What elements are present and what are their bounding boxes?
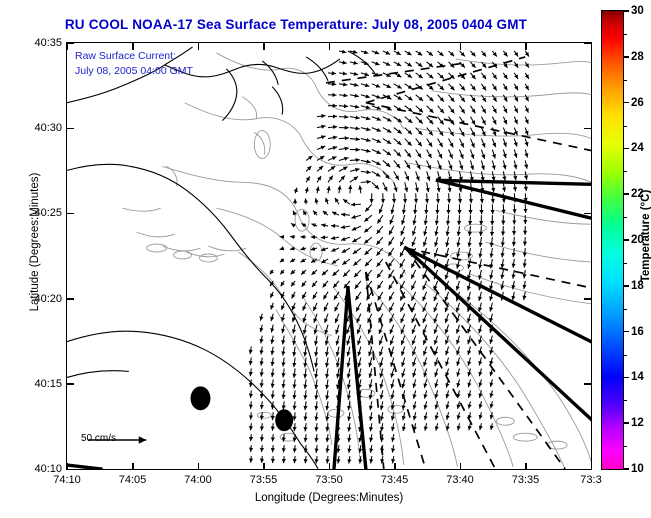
x-tick-label: 73:35 [512,474,540,486]
y-tick-label: 40:35 [34,37,62,49]
current-annotation: Raw Surface Current: July 08, 2005 04:00… [75,49,193,79]
colorbar-tick-label: 14 [631,371,644,383]
colorbar-tick [624,102,629,104]
colorbar-tick [624,285,629,287]
colorbar-minor-tick [624,217,627,218]
colorbar-label: Temperature (°C) [640,156,651,316]
colorbar-minor-tick [624,355,627,356]
colorbar-minor-tick [624,34,627,35]
y-tick [67,213,74,215]
y-tick [67,469,74,471]
colorbar-tick [624,193,629,195]
y-tick [67,383,74,385]
x-tick-top [263,43,265,50]
x-tick-label: 73:40 [446,474,474,486]
x-tick [198,463,200,470]
colorbar-tick [624,148,629,150]
y-tick [67,43,74,45]
y-tick [67,128,74,130]
station-marker [191,386,211,410]
colorbar-tick [624,239,629,241]
x-tick-top [329,43,331,50]
y-tick-right [584,213,591,215]
surface-current-vectors [250,51,529,464]
colorbar-tick [624,422,629,424]
colorbar-tick [624,377,629,379]
x-tick-top [460,43,462,50]
x-tick-top [394,43,396,50]
x-tick [394,463,396,470]
y-axis-label: Latitude (Degrees:Minutes) [29,132,41,352]
x-tick-label: 74:00 [184,474,212,486]
annotation-line-1: Raw Surface Current: [75,49,193,64]
radar-beam-solid-lines [67,180,591,469]
vector-scale-key: 50 cm/s [66,433,183,447]
colorbar-minor-tick [624,400,627,401]
y-tick-right [584,469,591,471]
coastline [67,47,376,469]
station-markers [191,386,294,431]
colorbar-minor-tick [624,263,627,264]
colorbar-minor-tick [624,126,627,127]
x-tick-top [591,43,593,50]
sst-map-figure: RU COOL NOAA-17 Sea Surface Temperature:… [0,0,651,518]
x-tick [132,463,134,470]
x-tick [525,463,527,470]
annotation-line-2: July 08, 2005 04:00 GMT [75,64,193,79]
colorbar-tick [624,468,629,470]
colorbar-tick-label: 24 [631,142,644,154]
x-axis-label: Longitude (Degrees:Minutes) [66,492,592,504]
y-tick-label: 40:10 [34,463,62,475]
x-tick [263,463,265,470]
station-marker [275,409,293,431]
colorbar-minor-tick [624,309,627,310]
y-tick-label: 40:15 [34,378,62,390]
colorbar-minor-tick [624,171,627,172]
x-tick-label: 73:45 [381,474,409,486]
x-tick-top [198,43,200,50]
colorbar-minor-tick [624,446,627,447]
y-tick-right [584,298,591,300]
x-tick-label: 74:05 [119,474,147,486]
colorbar-tick-label: 28 [631,51,644,63]
x-tick [329,463,331,470]
y-tick-right [584,383,591,385]
colorbar-minor-tick [624,80,627,81]
y-tick-right [584,128,591,130]
x-tick-top [67,43,69,50]
map-canvas [67,43,591,469]
x-tick-label: 73:3 [580,474,601,486]
x-tick-label: 73:55 [250,474,278,486]
colorbar-tick-label: 12 [631,417,644,429]
colorbar-tick-label: 10 [631,463,644,475]
x-tick-top [525,43,527,50]
colorbar-tick-label: 26 [631,97,644,109]
colorbar-tick [624,56,629,58]
colorbar-tick-label: 30 [631,5,644,17]
colorbar [601,10,624,470]
colorbar-tick [624,10,629,12]
colorbar-tick-label: 16 [631,326,644,338]
figure-title: RU COOL NOAA-17 Sea Surface Temperature:… [0,17,592,32]
colorbar-tick [624,331,629,333]
y-tick [67,298,74,300]
x-tick-label: 73:50 [315,474,343,486]
plot-area: Raw Surface Current: July 08, 2005 04:00… [66,42,592,470]
x-tick [460,463,462,470]
x-tick-label: 74:10 [53,474,81,486]
y-tick-right [584,43,591,45]
